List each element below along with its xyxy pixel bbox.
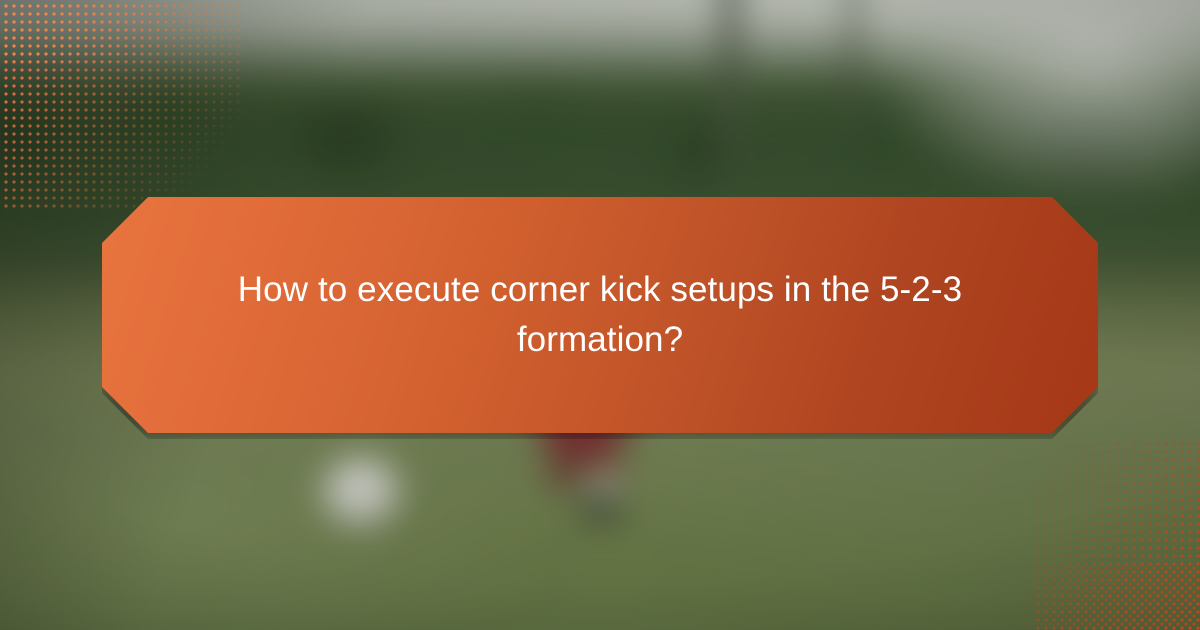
title-banner: How to execute corner kick setups in the… (102, 197, 1098, 433)
halftone-dots-top-left-accent (0, 0, 190, 62)
page-title: How to execute corner kick setups in the… (220, 265, 980, 365)
page-root: How to execute corner kick setups in the… (0, 0, 1200, 630)
halftone-dots-bottom-right-accent (1012, 562, 1200, 630)
